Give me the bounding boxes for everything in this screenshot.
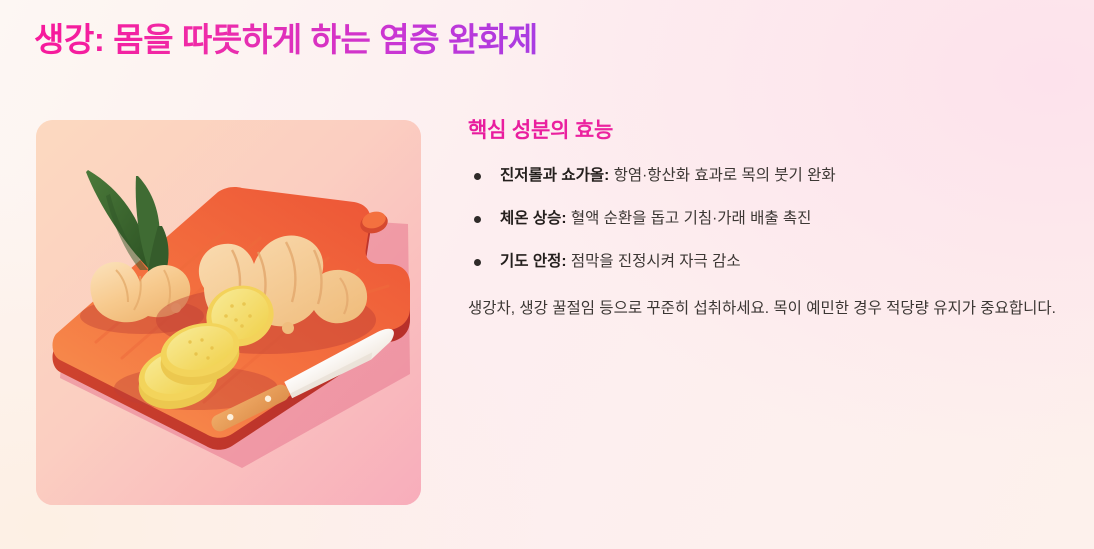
ginger-illustration-card xyxy=(36,120,421,505)
content-area: 핵심 성분의 효능 진저롤과 쇼가올: 항염·항산화 효과로 목의 붓기 완화 … xyxy=(0,0,1094,549)
slide-root: 생강: 몸을 따뜻하게 하는 염증 완화제 xyxy=(0,0,1094,549)
bullet-description: 혈액 순환을 돕고 기침·가래 배출 촉진 xyxy=(571,210,812,227)
bullet-separator: : xyxy=(561,253,570,270)
bullet-description: 항염·항산화 효과로 목의 붓기 완화 xyxy=(614,167,836,184)
list-item: 기도 안정: 점막을 진정시켜 자극 감소 xyxy=(468,251,1074,273)
benefits-panel: 핵심 성분의 효능 진저롤과 쇼가올: 항염·항산화 효과로 목의 붓기 완화 … xyxy=(468,116,1074,323)
section-heading: 핵심 성분의 효능 xyxy=(468,116,1074,146)
bullet-separator: : xyxy=(561,210,570,227)
bullet-description: 점막을 진정시켜 자극 감소 xyxy=(571,253,741,270)
bullet-term: 체온 상승 xyxy=(500,210,561,227)
benefits-list: 진저롤과 쇼가올: 항염·항산화 효과로 목의 붓기 완화 체온 상승: 혈액 … xyxy=(468,165,1074,273)
usage-note: 생강차, 생강 꿀절임 등으로 꾸준히 섭취하세요. 목이 예민한 경우 적당량… xyxy=(468,294,1068,323)
list-item: 체온 상승: 혈액 순환을 돕고 기침·가래 배출 촉진 xyxy=(468,208,1074,230)
ginger-root-on-cutting-board-illustration xyxy=(36,120,421,505)
list-item: 진저롤과 쇼가올: 항염·항산화 효과로 목의 붓기 완화 xyxy=(468,165,1074,187)
bullet-term: 진저롤과 쇼가올 xyxy=(500,167,604,184)
bullet-term: 기도 안정 xyxy=(500,253,561,270)
bullet-separator: : xyxy=(604,167,613,184)
